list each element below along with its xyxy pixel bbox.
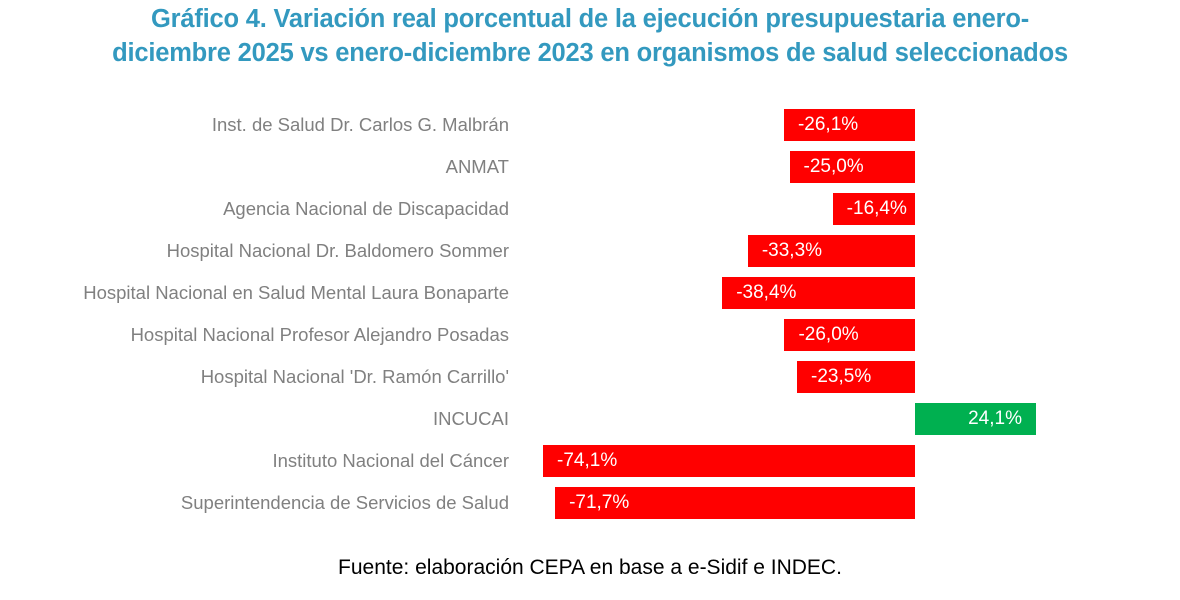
chart-row: Hospital Nacional en Salud Mental Laura … (0, 277, 1180, 319)
category-label: Hospital Nacional Dr. Baldomero Sommer (167, 235, 509, 267)
category-label: Hospital Nacional 'Dr. Ramón Carrillo' (201, 361, 509, 393)
bar-negative[interactable]: -16,4% (833, 193, 915, 225)
chart-container: Gráfico 4. Variación real porcentual de … (0, 0, 1180, 600)
category-label: Superintendencia de Servicios de Salud (181, 487, 509, 519)
bar-value-label: -74,1% (557, 445, 617, 477)
bar-value-label: -71,7% (569, 487, 629, 519)
bar-negative[interactable]: -26,0% (784, 319, 915, 351)
category-label: Hospital Nacional en Salud Mental Laura … (83, 277, 509, 309)
category-label: Instituto Nacional del Cáncer (272, 445, 509, 477)
category-label: Agencia Nacional de Discapacidad (223, 193, 509, 225)
plot-area: Inst. de Salud Dr. Carlos G. Malbrán-26,… (0, 0, 1180, 600)
chart-row: Superintendencia de Servicios de Salud-7… (0, 487, 1180, 529)
category-label: ANMAT (446, 151, 509, 183)
bar-negative[interactable]: -26,1% (784, 109, 915, 141)
bar-negative[interactable]: -23,5% (797, 361, 915, 393)
chart-row: INCUCAI24,1% (0, 403, 1180, 445)
bar-value-label: 24,1% (968, 403, 1022, 435)
bar-value-label: -25,0% (804, 151, 864, 183)
category-label: Inst. de Salud Dr. Carlos G. Malbrán (212, 109, 509, 141)
bar-value-label: -23,5% (811, 361, 871, 393)
bar-negative[interactable]: -74,1% (543, 445, 915, 477)
chart-row: Hospital Nacional Profesor Alejandro Pos… (0, 319, 1180, 361)
category-label: Hospital Nacional Profesor Alejandro Pos… (131, 319, 509, 351)
bar-negative[interactable]: -33,3% (748, 235, 915, 267)
bar-negative[interactable]: -25,0% (790, 151, 916, 183)
source-note: Fuente: elaboración CEPA en base a e-Sid… (0, 556, 1180, 580)
bar-positive[interactable]: 24,1% (915, 403, 1036, 435)
bar-value-label: -26,1% (798, 109, 858, 141)
chart-row: ANMAT-25,0% (0, 151, 1180, 193)
chart-row: Agencia Nacional de Discapacidad-16,4% (0, 193, 1180, 235)
bar-value-label: -26,0% (798, 319, 858, 351)
bar-value-label: -16,4% (847, 193, 907, 225)
category-label: INCUCAI (433, 403, 509, 435)
chart-row: Instituto Nacional del Cáncer-74,1% (0, 445, 1180, 487)
chart-row: Inst. de Salud Dr. Carlos G. Malbrán-26,… (0, 109, 1180, 151)
chart-row: Hospital Nacional Dr. Baldomero Sommer-3… (0, 235, 1180, 277)
chart-row: Hospital Nacional 'Dr. Ramón Carrillo'-2… (0, 361, 1180, 403)
bar-value-label: -38,4% (736, 277, 796, 309)
bar-negative[interactable]: -38,4% (722, 277, 915, 309)
bar-value-label: -33,3% (762, 235, 822, 267)
bar-negative[interactable]: -71,7% (555, 487, 915, 519)
